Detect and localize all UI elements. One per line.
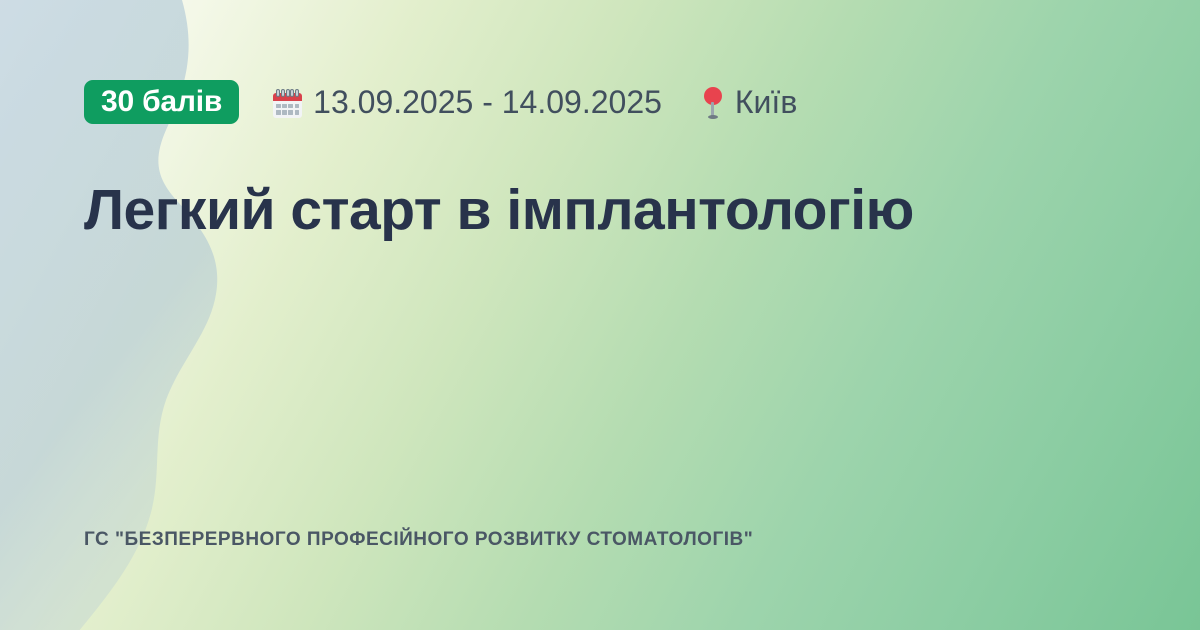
event-title: Легкий старт в імплантологію	[84, 178, 1084, 244]
map-pin-icon	[702, 87, 724, 119]
points-badge: 30 балів	[84, 80, 239, 124]
calendar-icon	[273, 89, 302, 118]
event-location: Київ	[702, 86, 797, 118]
event-date-text: 13.09.2025 - 14.09.2025	[313, 86, 662, 118]
event-date: 13.09.2025 - 14.09.2025	[273, 86, 662, 118]
organizer-name: ГС "БЕЗПЕРЕРВНОГО ПРОФЕСІЙНОГО РОЗВИТКУ …	[84, 529, 753, 552]
meta-row: 30 балів 13.09.2025 - 14.09.2025 Київ	[84, 78, 1120, 126]
event-location-text: Київ	[735, 86, 797, 118]
event-promo-card: 30 балів 13.09.2025 - 14.09.2025 Київ	[0, 0, 1200, 630]
